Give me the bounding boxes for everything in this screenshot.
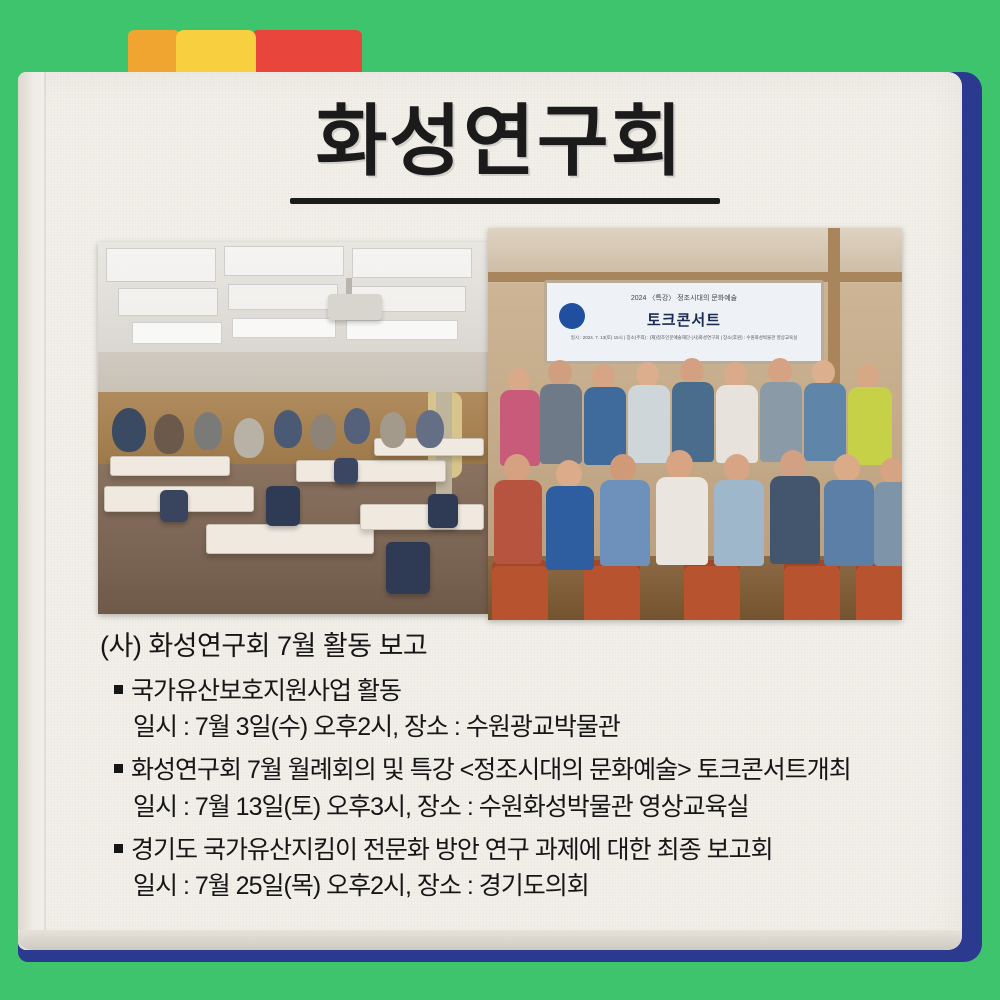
auditorium-seat	[684, 560, 740, 620]
auditorium-seat	[492, 560, 548, 620]
report-item-title: 화성연구회 7월 월례회의 및 특강 <정조시대의 문화예술> 토크콘서트개최	[131, 752, 851, 788]
chair	[266, 486, 300, 526]
chair	[386, 542, 430, 594]
report-item-bullet-row: 경기도 국가유산지킴이 전문화 방안 연구 과제에 대한 최종 보고회	[100, 832, 940, 868]
attendee	[112, 408, 146, 452]
bullet-square-icon	[114, 844, 123, 853]
attendee	[274, 410, 302, 448]
chair	[160, 490, 188, 522]
chair	[334, 458, 358, 484]
attendee	[234, 418, 264, 458]
attendee	[380, 412, 406, 448]
page-bottom-edge	[18, 930, 962, 950]
auditorium-seat	[856, 560, 902, 620]
title-underline	[290, 198, 720, 204]
attendee	[154, 414, 184, 454]
attendee	[310, 414, 336, 450]
ribbon-yellow	[176, 30, 256, 72]
screen-details: 일시 : 2024. 7. 13(토) 15시 | 장소(주최) : (재)정조…	[547, 335, 821, 341]
report-item-detail: 일시 : 7월 13일(토) 오후3시, 장소 : 수원화성박물관 영상교육실	[100, 789, 940, 827]
table	[296, 460, 446, 482]
screen-subtitle: 2024 〈특강〉 정조시대의 문화예술	[547, 293, 821, 303]
report-item: 경기도 국가유산지킴이 전문화 방안 연구 과제에 대한 최종 보고회 일시 :…	[100, 832, 940, 906]
table	[360, 504, 484, 530]
card-root: 화성연구회	[0, 0, 1000, 1000]
report-item-bullet-row: 화성연구회 7월 월례회의 및 특강 <정조시대의 문화예술> 토크콘서트개최	[100, 752, 940, 788]
book-spine	[18, 72, 44, 950]
bullet-square-icon	[114, 685, 123, 694]
report-text-block: (사) 화성연구회 7월 활동 보고 국가유산보호지원사업 활동 일시 : 7월…	[100, 626, 940, 906]
table	[110, 456, 230, 476]
ceiling	[98, 242, 488, 362]
report-item-detail: 일시 : 7월 3일(수) 오후2시, 장소 : 수원광교박물관	[100, 709, 940, 747]
bullet-square-icon	[114, 764, 123, 773]
report-item: 국가유산보호지원사업 활동 일시 : 7월 3일(수) 오후2시, 장소 : 수…	[100, 673, 940, 747]
attendee	[416, 410, 444, 448]
page-title: 화성연구회	[316, 100, 685, 190]
presentation-screen: 2024 〈특강〉 정조시대의 문화예술 토크콘서트 일시 : 2024. 7.…	[544, 280, 824, 364]
seminar-room-photo	[98, 242, 488, 614]
chair	[428, 494, 458, 528]
auditorium-seat	[784, 560, 840, 620]
report-item-title: 국가유산보호지원사업 활동	[131, 673, 401, 709]
title-area: 화성연구회	[0, 100, 1000, 190]
projector-icon	[328, 294, 382, 320]
report-item-title: 경기도 국가유산지킴이 전문화 방안 연구 과제에 대한 최종 보고회	[131, 832, 773, 868]
photo-row: 2024 〈특강〉 정조시대의 문화예술 토크콘서트 일시 : 2024. 7.…	[98, 228, 902, 620]
book-spine-crease	[44, 72, 46, 950]
table	[206, 524, 374, 554]
attendee	[194, 412, 222, 450]
report-item: 화성연구회 7월 월례회의 및 특강 <정조시대의 문화예술> 토크콘서트개최 …	[100, 752, 940, 826]
screen-title: 토크콘서트	[547, 309, 821, 330]
report-item-bullet-row: 국가유산보호지원사업 활동	[100, 673, 940, 709]
attendee	[344, 408, 370, 444]
report-heading: (사) 화성연구회 7월 활동 보고	[100, 626, 940, 667]
report-item-detail: 일시 : 7월 25일(목) 오후2시, 장소 : 경기도의회	[100, 868, 940, 906]
group-photo: 2024 〈특강〉 정조시대의 문화예술 토크콘서트 일시 : 2024. 7.…	[488, 228, 902, 620]
